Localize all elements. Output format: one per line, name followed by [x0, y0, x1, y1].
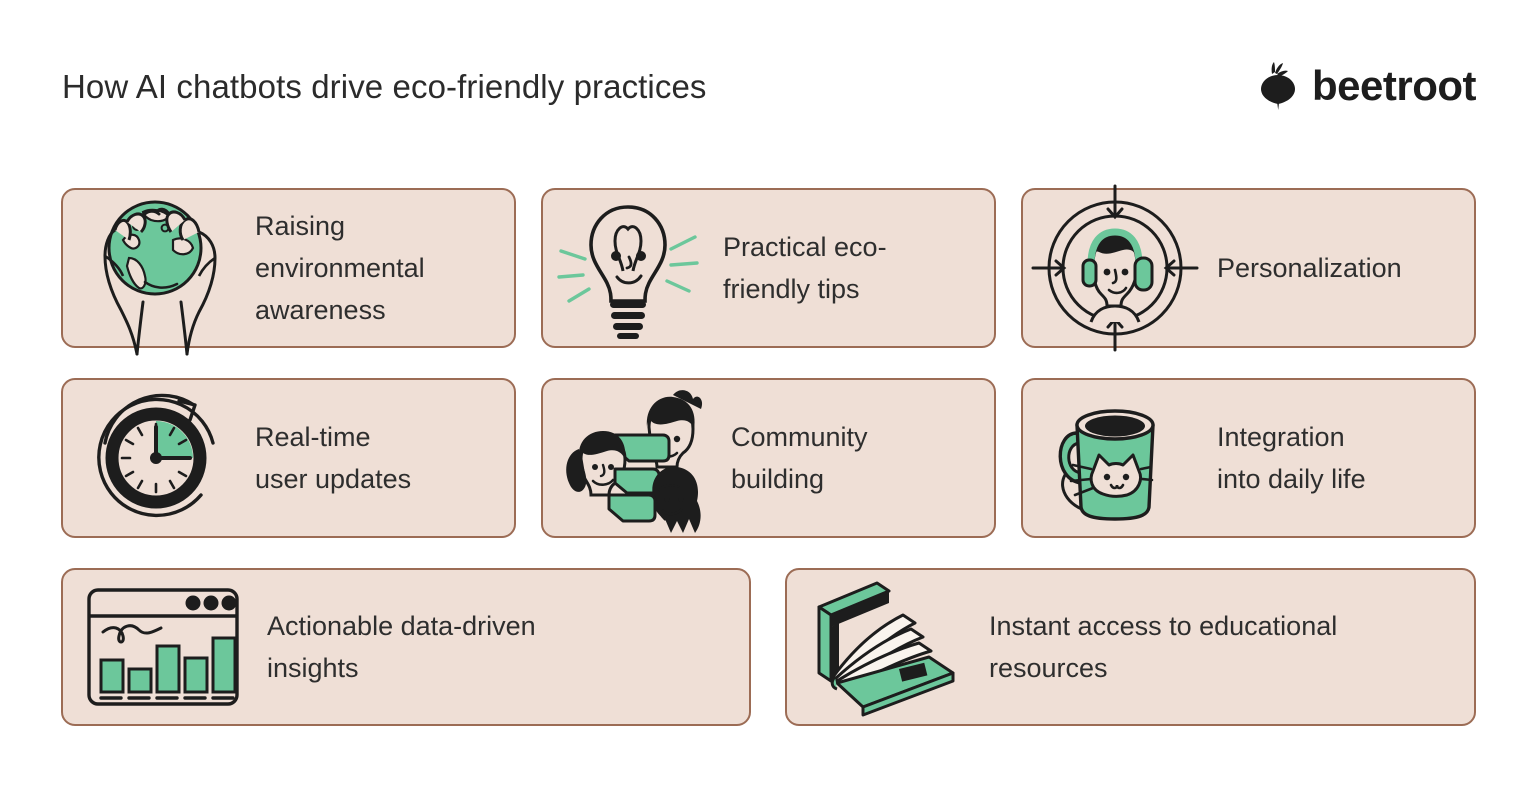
feature-card-actionable-data-driven-insights[interactable]: Actionable data-driven insights — [61, 568, 751, 726]
bar-chart-window-icon — [83, 582, 243, 712]
card-label: Community building — [731, 416, 868, 500]
cat-mug-icon — [1047, 383, 1187, 533]
people-chat-bubbles-icon — [553, 383, 713, 533]
feature-card-real-time-user-updates[interactable]: Real-time user updates — [61, 378, 516, 538]
card-label: Instant access to educational resources — [989, 605, 1337, 689]
hands-holding-globe-icon — [81, 188, 241, 348]
feature-card-grid: Raising environmental awareness — [0, 0, 1536, 792]
card-label: Actionable data-driven insights — [267, 605, 536, 689]
feature-card-personalization[interactable]: Personalization — [1021, 188, 1476, 348]
card-label: Practical eco- friendly tips — [723, 226, 887, 310]
feature-card-integration-into-daily-life[interactable]: Integration into daily life — [1021, 378, 1476, 538]
card-label: Integration into daily life — [1217, 416, 1366, 500]
feature-card-practical-eco-friendly-tips[interactable]: Practical eco- friendly tips — [541, 188, 996, 348]
lightbulb-face-icon — [553, 193, 703, 343]
card-label: Real-time user updates — [255, 416, 411, 500]
clock-refresh-icon — [83, 383, 233, 533]
infographic-page: How AI chatbots drive eco-friendly pract… — [0, 0, 1536, 792]
feature-card-community-building[interactable]: Community building — [541, 378, 996, 538]
card-label: Personalization — [1217, 247, 1402, 289]
feature-card-raising-environmental-awareness[interactable]: Raising environmental awareness — [61, 188, 516, 348]
card-label: Raising environmental awareness — [255, 205, 425, 331]
person-headphones-target-icon — [1037, 190, 1193, 346]
open-book-icon — [807, 577, 967, 717]
feature-card-instant-access-to-educational-resources[interactable]: Instant access to educational resources — [785, 568, 1476, 726]
